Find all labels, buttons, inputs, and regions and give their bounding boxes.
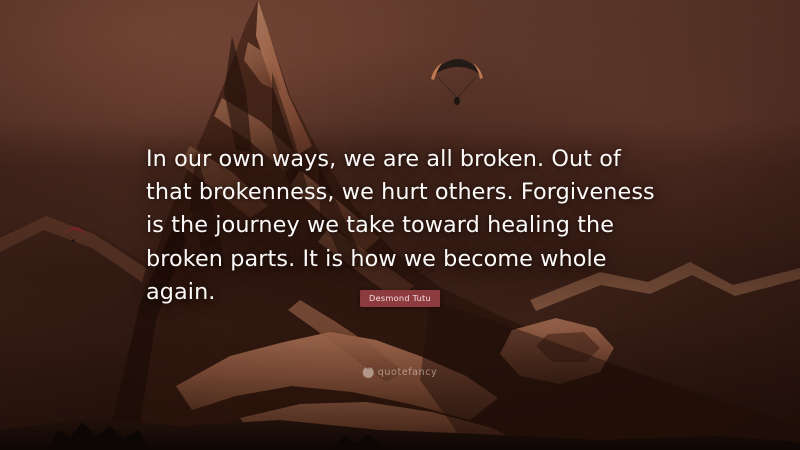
quotefancy-watermark[interactable]: “ quotefancy — [363, 367, 438, 378]
quote-mark-icon: “ — [363, 367, 374, 378]
quote-poster: In our own ways, we are all broken. Out … — [0, 0, 800, 450]
watermark-brand-label: quotefancy — [378, 368, 438, 378]
poster-content: In our own ways, we are all broken. Out … — [0, 0, 800, 450]
quote-text: In our own ways, we are all broken. Out … — [146, 143, 658, 309]
author-badge: Desmond Tutu — [360, 290, 440, 307]
quote-mark-glyph: “ — [366, 367, 371, 376]
